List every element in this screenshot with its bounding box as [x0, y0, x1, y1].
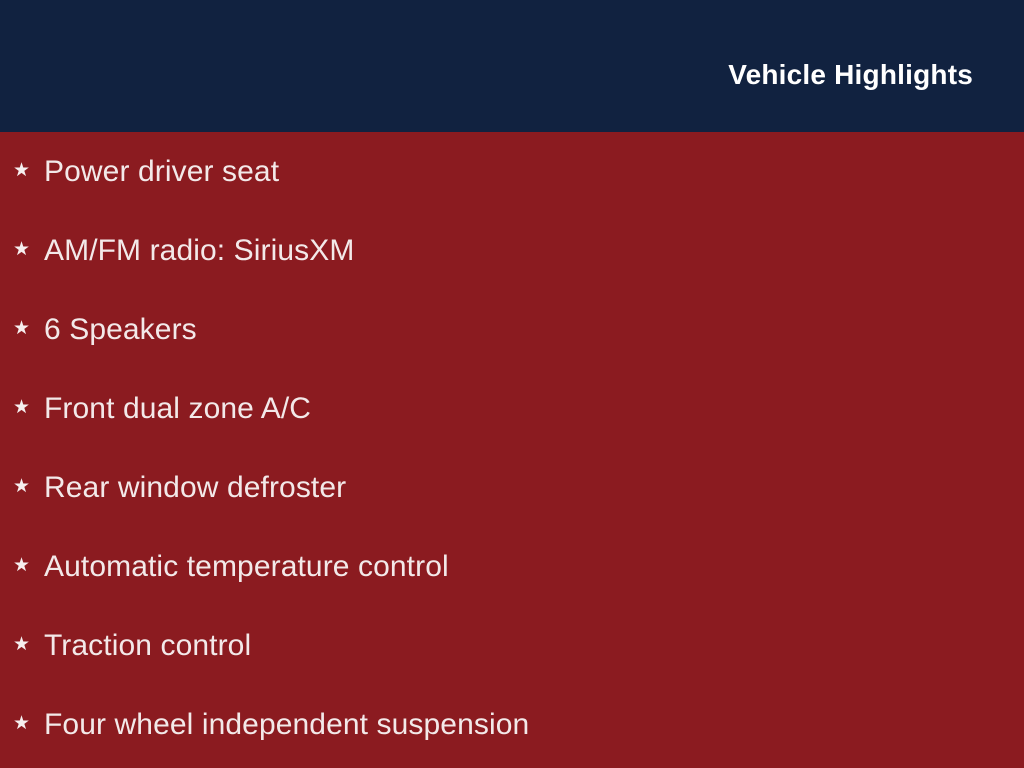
highlight-label: Front dual zone A/C — [44, 392, 311, 425]
star-icon: ★ — [13, 714, 31, 733]
list-item: ★ AM/FM radio: SiriusXM — [0, 211, 1024, 290]
highlight-label: Automatic temperature control — [44, 550, 449, 583]
highlights-body: ★ Power driver seat ★ AM/FM radio: Siriu… — [0, 132, 1024, 768]
list-item: ★ Rear window defroster — [0, 448, 1024, 527]
page-title: Vehicle Highlights — [728, 43, 1024, 89]
list-item: ★ Traction control — [0, 606, 1024, 685]
highlight-label: Power driver seat — [44, 155, 279, 188]
highlight-label: Rear window defroster — [44, 471, 346, 504]
star-icon: ★ — [13, 556, 31, 575]
list-item: ★ Automatic temperature control — [0, 527, 1024, 606]
highlight-label: 6 Speakers — [44, 313, 197, 346]
star-icon: ★ — [13, 161, 31, 180]
star-icon: ★ — [13, 398, 31, 417]
vehicle-highlights-list: ★ Power driver seat ★ AM/FM radio: Siriu… — [0, 132, 1024, 764]
highlight-label: Four wheel independent suspension — [44, 708, 529, 741]
highlight-label: AM/FM radio: SiriusXM — [44, 234, 354, 267]
list-item: ★ Front dual zone A/C — [0, 369, 1024, 448]
vehicle-highlights-slide: Vehicle Highlights ★ Power driver seat ★… — [0, 0, 1024, 768]
slide-header-band: Vehicle Highlights — [0, 0, 1024, 132]
star-icon: ★ — [13, 635, 31, 654]
list-item: ★ 6 Speakers — [0, 290, 1024, 369]
list-item: ★ Power driver seat — [0, 132, 1024, 211]
star-icon: ★ — [13, 319, 31, 338]
highlight-label: Traction control — [44, 629, 251, 662]
list-item: ★ Four wheel independent suspension — [0, 685, 1024, 764]
star-icon: ★ — [13, 240, 31, 259]
star-icon: ★ — [13, 477, 31, 496]
